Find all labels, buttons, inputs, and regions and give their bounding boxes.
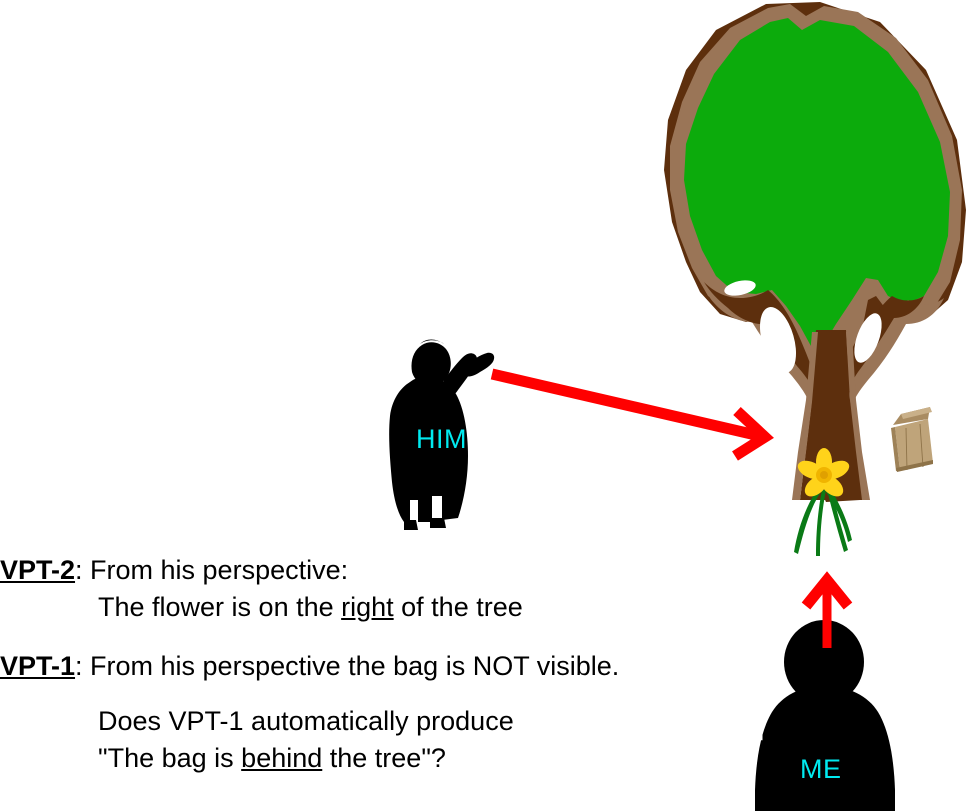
him-silhouette-pointing — [389, 340, 494, 531]
text-spacer-2 — [0, 685, 740, 703]
question-line-2-before: "The bag is — [98, 743, 241, 773]
text-spacer-1 — [0, 626, 740, 648]
vpt2-line-1-rest: : From his perspective: — [75, 555, 348, 585]
vpt2-line-2-before: The flower is on the — [98, 592, 341, 622]
vpt2-lead-label: VPT-2 — [0, 555, 75, 585]
red-arrow-him-to-tree — [492, 374, 765, 456]
vpt1-line: VPT-1: From his perspective the bag is N… — [0, 648, 740, 685]
vpt2-line-2-after: of the tree — [394, 592, 523, 622]
vpt1-lead-label: VPT-1 — [0, 651, 75, 681]
vpt2-line-2: The flower is on the right of the tree — [0, 589, 740, 626]
vpt2-line-2-underlined-right: right — [341, 592, 394, 622]
question-line-2-underlined-behind: behind — [241, 743, 322, 773]
vpt1-line-rest: : From his perspective the bag is NOT vi… — [75, 651, 619, 681]
daffodil-flower — [794, 448, 852, 556]
vpt2-line-1: VPT-2: From his perspective: — [0, 552, 740, 589]
me-silhouette — [755, 620, 895, 811]
flower-center — [820, 471, 828, 479]
him-arrow-shaft — [492, 374, 760, 436]
paper-bag — [891, 407, 933, 472]
caption-text-block: VPT-2: From his perspective: The flower … — [0, 552, 740, 777]
question-line-1: Does VPT-1 automatically produce — [0, 703, 740, 740]
slide-canvas: HIM ME VPT-2: From his perspective: The … — [0, 0, 979, 811]
question-line-2: "The bag is behind the tree"? — [0, 740, 740, 777]
question-line-2-after: the tree"? — [322, 743, 446, 773]
